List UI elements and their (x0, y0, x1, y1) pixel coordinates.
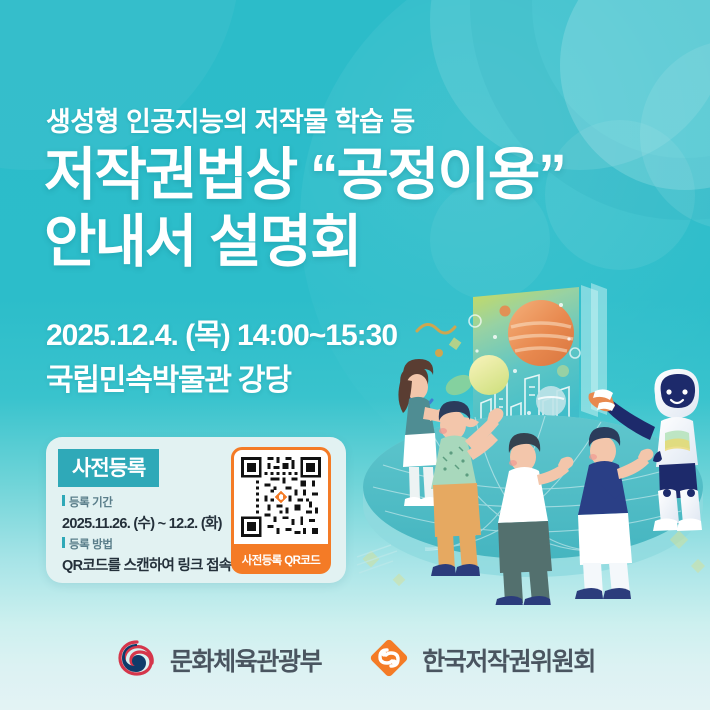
title-line-2: 안내서 설명회 (44, 209, 684, 276)
logo-mcst-label: 문화체육관광부 (170, 642, 321, 678)
logo-kcc-label: 한국저작권위원회 (422, 642, 595, 678)
registration-method-field: 등록 방법 QR코드를 스캔하여 링크 접속 (62, 536, 231, 575)
logo-kcc: 한국저작권위원회 (367, 636, 595, 685)
title-line-1: 저작권법상 “공정이용” (44, 143, 565, 207)
registration-method-value: QR코드를 스캔하여 링크 접속 (62, 554, 231, 575)
registration-period-field: 등록 기간 2025.11.26. (수) ~ 12.2. (화) (62, 494, 222, 533)
registration-method-label: 등록 방법 (62, 536, 231, 552)
qr-code-icon[interactable] (231, 447, 331, 547)
event-datetime: 2025.12.4. (목) 14:00~15:30 (46, 310, 397, 354)
registration-card: 사전등록 등록 기간 2025.11.26. (수) ~ 12.2. (화) 등… (46, 437, 346, 583)
qr-code-block[interactable]: 사전등록 QR코드 (231, 447, 331, 574)
poster-subtitle: 생성형 인공지능의 저작물 학습 등 (46, 100, 415, 139)
page-title: 저작권법상 “공정이용” 안내서 설명회 (44, 142, 684, 277)
taegeuk-logo-icon (115, 636, 159, 685)
logo-mcst: 문화체육관광부 (115, 636, 321, 685)
registration-period-label: 등록 기간 (62, 494, 222, 510)
registration-period-value: 2025.11.26. (수) ~ 12.2. (화) (62, 512, 222, 533)
event-poster: 생성형 인공지능의 저작물 학습 등 저작권법상 “공정이용” 안내서 설명회 … (0, 0, 710, 710)
ai-hologram-audience-illustration (355, 275, 710, 605)
kcc-diamond-logo-icon (367, 636, 411, 685)
qr-code-caption: 사전등록 QR코드 (231, 547, 331, 574)
footer-logos: 문화체육관광부 한국저작권위원회 (0, 630, 710, 690)
event-venue: 국립민속박물관 강당 (46, 355, 291, 399)
registration-badge: 사전등록 (58, 449, 159, 487)
